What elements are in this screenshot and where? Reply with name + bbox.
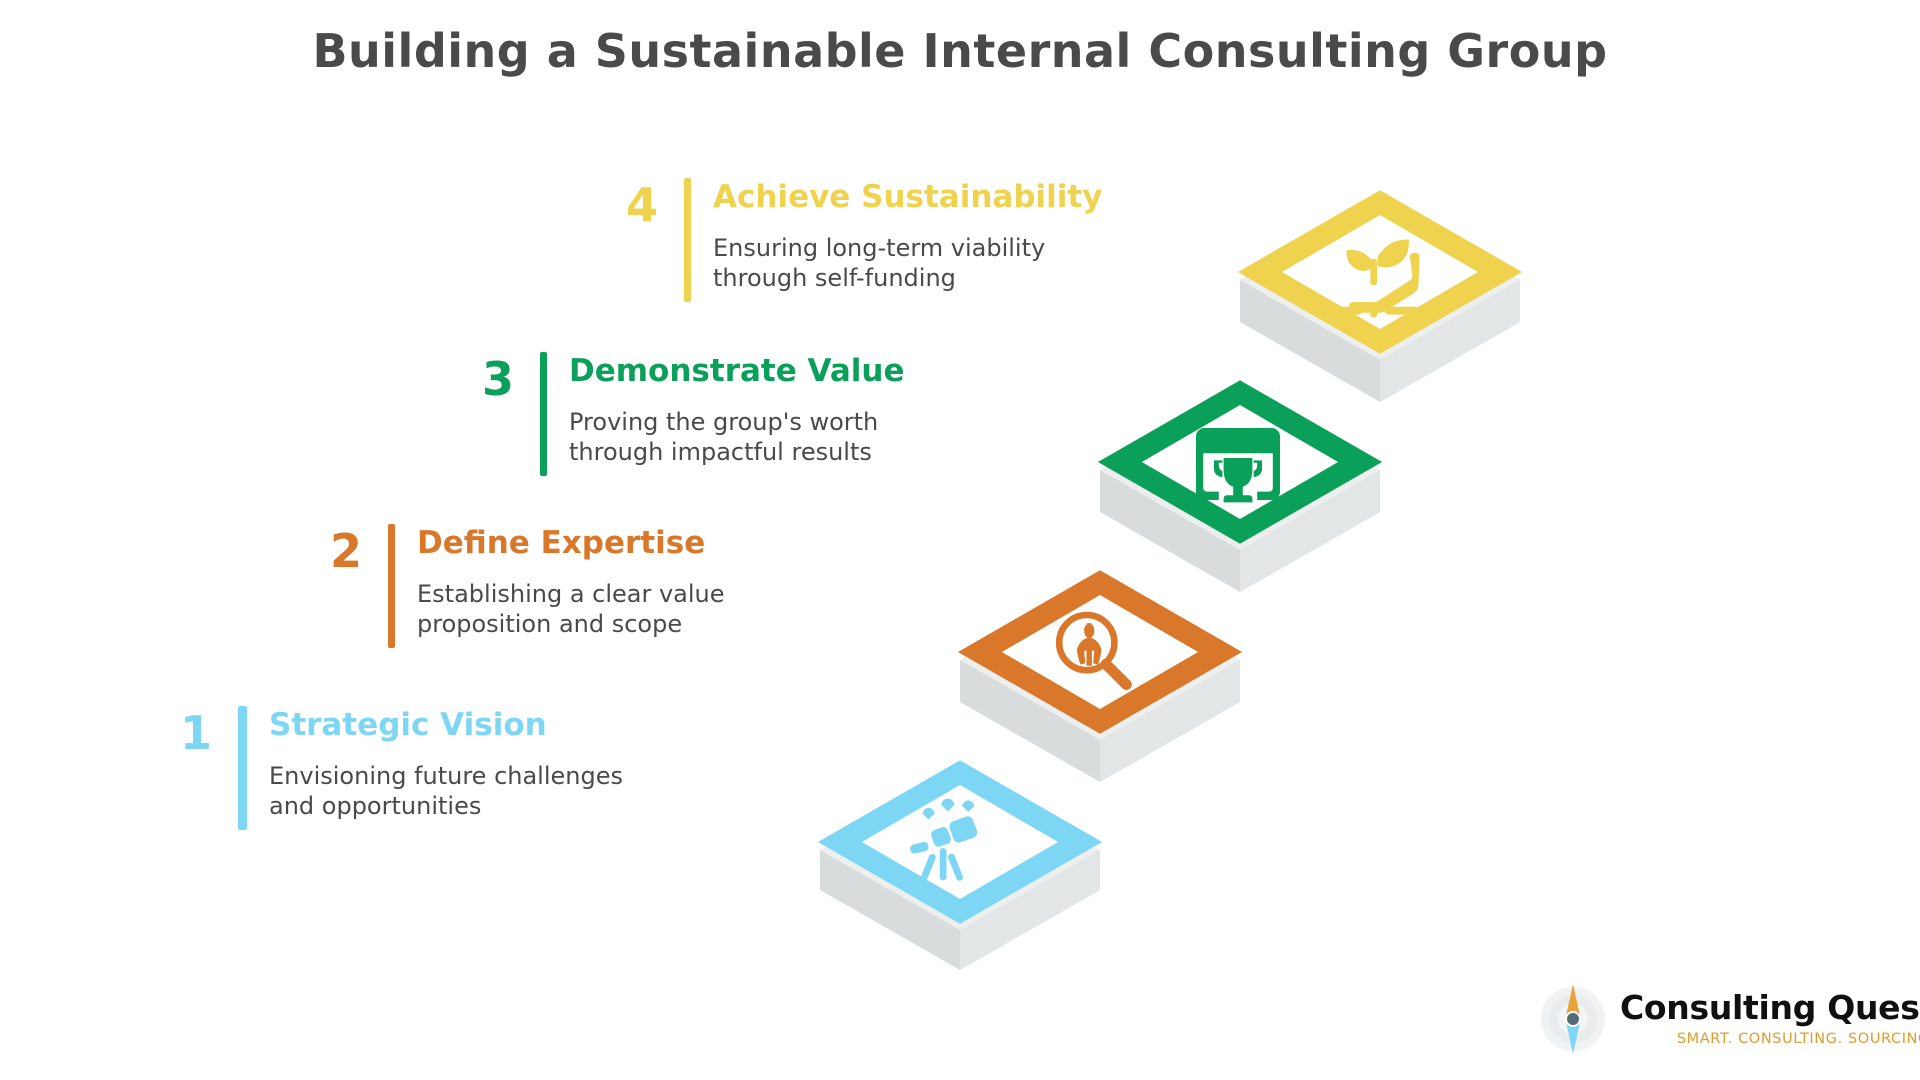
step-text-block-2: 2 Define Expertise Establishing a clear …: [300, 524, 770, 648]
stair-step-1: [820, 770, 1100, 970]
step-heading-2: Define Expertise: [417, 526, 770, 561]
step-description-3: Proving the group's worth through impact…: [569, 407, 922, 468]
stair-step-4: [1240, 200, 1520, 402]
stair-step-2: [960, 580, 1240, 782]
step-heading-3: Demonstrate Value: [569, 354, 922, 389]
compass-needle-icon: [1540, 980, 1614, 1058]
step-accent-rule-4: [684, 178, 691, 302]
step-number-3: 3: [452, 352, 514, 402]
step-accent-rule-3: [540, 352, 547, 476]
step-heading-4: Achieve Sustainability: [713, 180, 1102, 215]
step-number-2: 2: [300, 524, 362, 574]
brand-logo: Consulting Quest SMART. CONSULTING. SOUR…: [1540, 975, 1900, 1063]
step-accent-rule-2: [388, 524, 395, 648]
step-description-4: Ensuring long-term viability through sel…: [713, 233, 1102, 294]
step-heading-1: Strategic Vision: [269, 708, 640, 743]
step-text-block-4: 4 Achieve Sustainability Ensuring long-t…: [596, 178, 1066, 302]
infographic-canvas: Building a Sustainable Internal Consulti…: [0, 0, 1920, 1080]
stair-step-3: [1100, 390, 1380, 592]
logo-tagline: SMART. CONSULTING. SOURCING.: [1620, 1031, 1920, 1047]
step-text-block-3: 3 Demonstrate Value Proving the group's …: [452, 352, 922, 476]
step-accent-rule-1: [238, 706, 247, 830]
logo-name: Consulting Quest: [1620, 991, 1920, 1024]
step-number-1: 1: [150, 706, 212, 756]
page-title: Building a Sustainable Internal Consulti…: [0, 24, 1920, 78]
step-number-4: 4: [596, 178, 658, 228]
step-text-block-1: 1 Strategic Vision Envisioning future ch…: [150, 706, 640, 830]
step-description-2: Establishing a clear value proposition a…: [417, 579, 770, 640]
step-description-1: Envisioning future challenges and opport…: [269, 761, 640, 822]
